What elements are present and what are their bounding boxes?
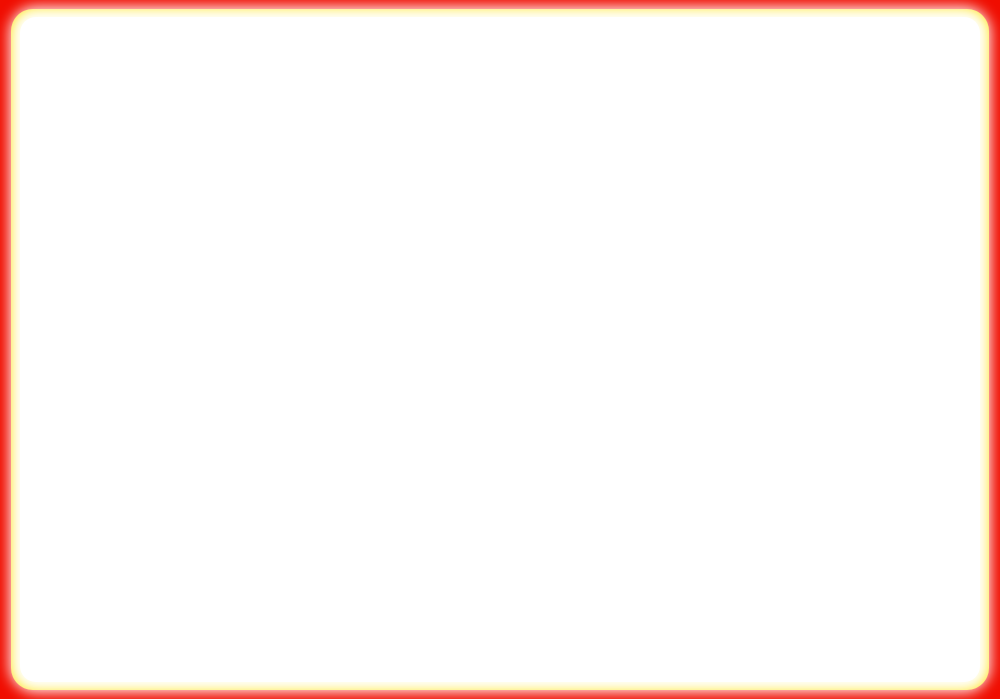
poster-stage: ⑥长剑出鞘 一个带长长下影线的 K 线形态， 阴线或者阳线都可以 遭遇空方打压时…: [0, 0, 1000, 699]
frame-white-fill: [20, 17, 980, 682]
